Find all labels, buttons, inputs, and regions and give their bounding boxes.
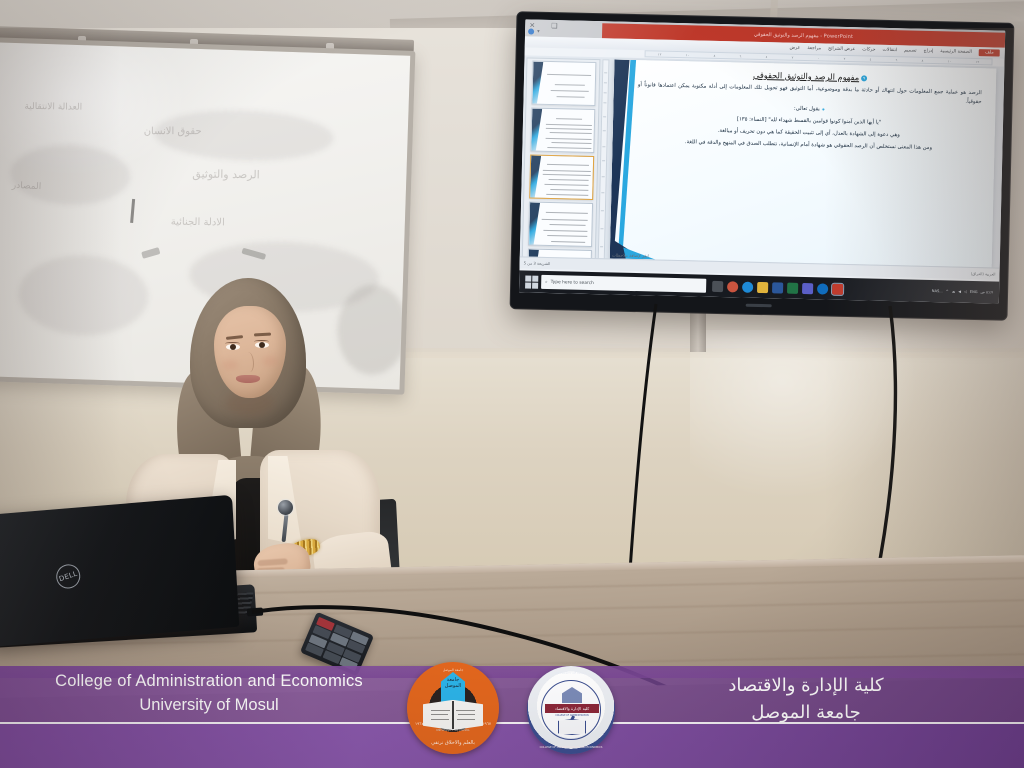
- whiteboard-ghost-text: الادلة الجنائية: [171, 217, 225, 229]
- open-book-icon: [558, 719, 586, 735]
- banner-university-name-en: University of Mosul: [44, 694, 374, 718]
- notes-placeholder[interactable]: انقر لإضافة ملاحظات: [612, 252, 649, 258]
- photograph-scene: العدالة الانتقالية حقوق الانسان الرصد وا…: [0, 0, 1024, 768]
- file-explorer-icon[interactable]: [757, 281, 768, 292]
- logo-band-arabic: كلية الإدارة والاقتصاد: [545, 704, 599, 713]
- chevron-down-icon[interactable]: ▾: [537, 29, 540, 35]
- logo-arc-top-text: جامعة الموصل: [407, 668, 499, 672]
- banner-lower-strip: [0, 724, 1024, 768]
- dome-text: جامعة الموصل: [441, 678, 465, 689]
- banner-university-name-ar: جامعة الموصل: [646, 699, 966, 726]
- eyelid-right: [254, 340, 269, 343]
- ruler-tick: ٨: [713, 53, 715, 57]
- maximize-icon[interactable]: ❑: [551, 22, 557, 30]
- tab-view[interactable]: عرض: [789, 46, 800, 51]
- logo-inner-disc: كلية الإدارة والاقتصاد COLLEGE OF ADMINI…: [541, 680, 601, 740]
- eyelid-left: [225, 342, 240, 345]
- slide-accent-shape: [530, 156, 541, 198]
- ruler-tick: ١٠: [686, 53, 690, 57]
- slide-thumbnail-selected[interactable]: 3: [529, 155, 594, 200]
- logo-ring-top-text: UNIVERSITY OF MOSUL: [527, 671, 615, 675]
- tv-power-led: [746, 303, 772, 307]
- ruler-tick: ١٢: [658, 52, 662, 56]
- nose: [244, 352, 254, 372]
- slide-accent-shape: [531, 109, 542, 151]
- logo-year-right: ١٩٦٧: [482, 721, 491, 726]
- slide-thumbnail[interactable]: 1: [531, 61, 596, 106]
- chrome-icon[interactable]: [727, 281, 738, 292]
- whiteboard-marker-stroke: [130, 199, 135, 223]
- slide-thumbnail-pane[interactable]: 1 2: [522, 57, 601, 260]
- college-of-administration-and-economics-logo: UNIVERSITY OF MOSUL كلية الإدارة والاقتص…: [527, 666, 615, 754]
- windows-start-icon[interactable]: [525, 275, 538, 288]
- banner-college-name-en: College of Administration and Economics: [44, 670, 374, 694]
- eyebrow-right: [254, 333, 271, 337]
- cheek-right: [262, 356, 278, 366]
- dell-logo: DELL: [53, 561, 83, 591]
- finger: [257, 558, 287, 566]
- whiteboard-ghost-text: الرصد والتوثيق: [192, 167, 260, 181]
- excel-icon[interactable]: [787, 282, 798, 293]
- logo-english-ring-text: UNIVERSITY OF MOSUL: [407, 729, 499, 732]
- banner-arabic-text: كلية الإدارة والاقتصاد جامعة الموصل: [646, 672, 966, 726]
- cheek-left: [222, 360, 238, 370]
- dome-icon: [562, 687, 582, 703]
- word-icon[interactable]: [772, 282, 783, 293]
- eyebrow-left: [226, 335, 243, 340]
- slide-accent-shape: [532, 62, 543, 104]
- edge-icon[interactable]: [742, 281, 753, 292]
- search-placeholder: Type here to search: [551, 280, 594, 286]
- ruler-tick: ٤: [765, 55, 767, 59]
- key-brooch: [278, 500, 293, 515]
- tab-review[interactable]: مراجعة: [807, 46, 821, 51]
- quick-access-toolbar[interactable]: ▾: [528, 28, 540, 34]
- ruler-tick: ٦: [739, 54, 741, 58]
- banner-english-text: College of Administration and Economics …: [44, 670, 374, 718]
- ruler-tick: ٠: [818, 56, 820, 60]
- laptop-hdmi-port: [247, 607, 264, 616]
- task-view-icon[interactable]: [712, 280, 723, 291]
- teams-icon[interactable]: [802, 282, 813, 293]
- logo-year-left: ١٩٦٧: [415, 721, 424, 726]
- slide-thumbnail[interactable]: 4: [528, 202, 593, 247]
- lips: [236, 375, 260, 383]
- save-icon[interactable]: [528, 28, 534, 34]
- slide-thumbnail[interactable]: 2: [530, 108, 595, 153]
- bottom-banner: College of Administration and Economics …: [0, 666, 1024, 768]
- logo-ring-bottom-text: COLLEGE OF ADMINISTRATION AND ECONOMICS: [527, 746, 615, 749]
- search-input[interactable]: ⌕ Type here to search: [541, 275, 706, 293]
- search-icon: ⌕: [545, 279, 548, 285]
- open-book-icon: [423, 700, 483, 730]
- slide-accent-shape: [529, 203, 540, 245]
- dell-laptop: DELL: [0, 495, 239, 647]
- logo-motto-text: بالعلم والاخلاق نرتقي: [407, 740, 499, 746]
- banner-college-name-ar: كلية الإدارة والاقتصاد: [646, 672, 966, 699]
- status-slide-count: الشريحة 3 من 5: [524, 260, 551, 266]
- ruler-tick: ٢: [791, 55, 793, 59]
- university-of-mosul-logo: جامعة الموصل جامعة الموصل UNIVERSITY OF …: [407, 662, 499, 754]
- tv-wall-mount: [690, 312, 706, 352]
- whiteboard-marker-stroke: [141, 247, 160, 259]
